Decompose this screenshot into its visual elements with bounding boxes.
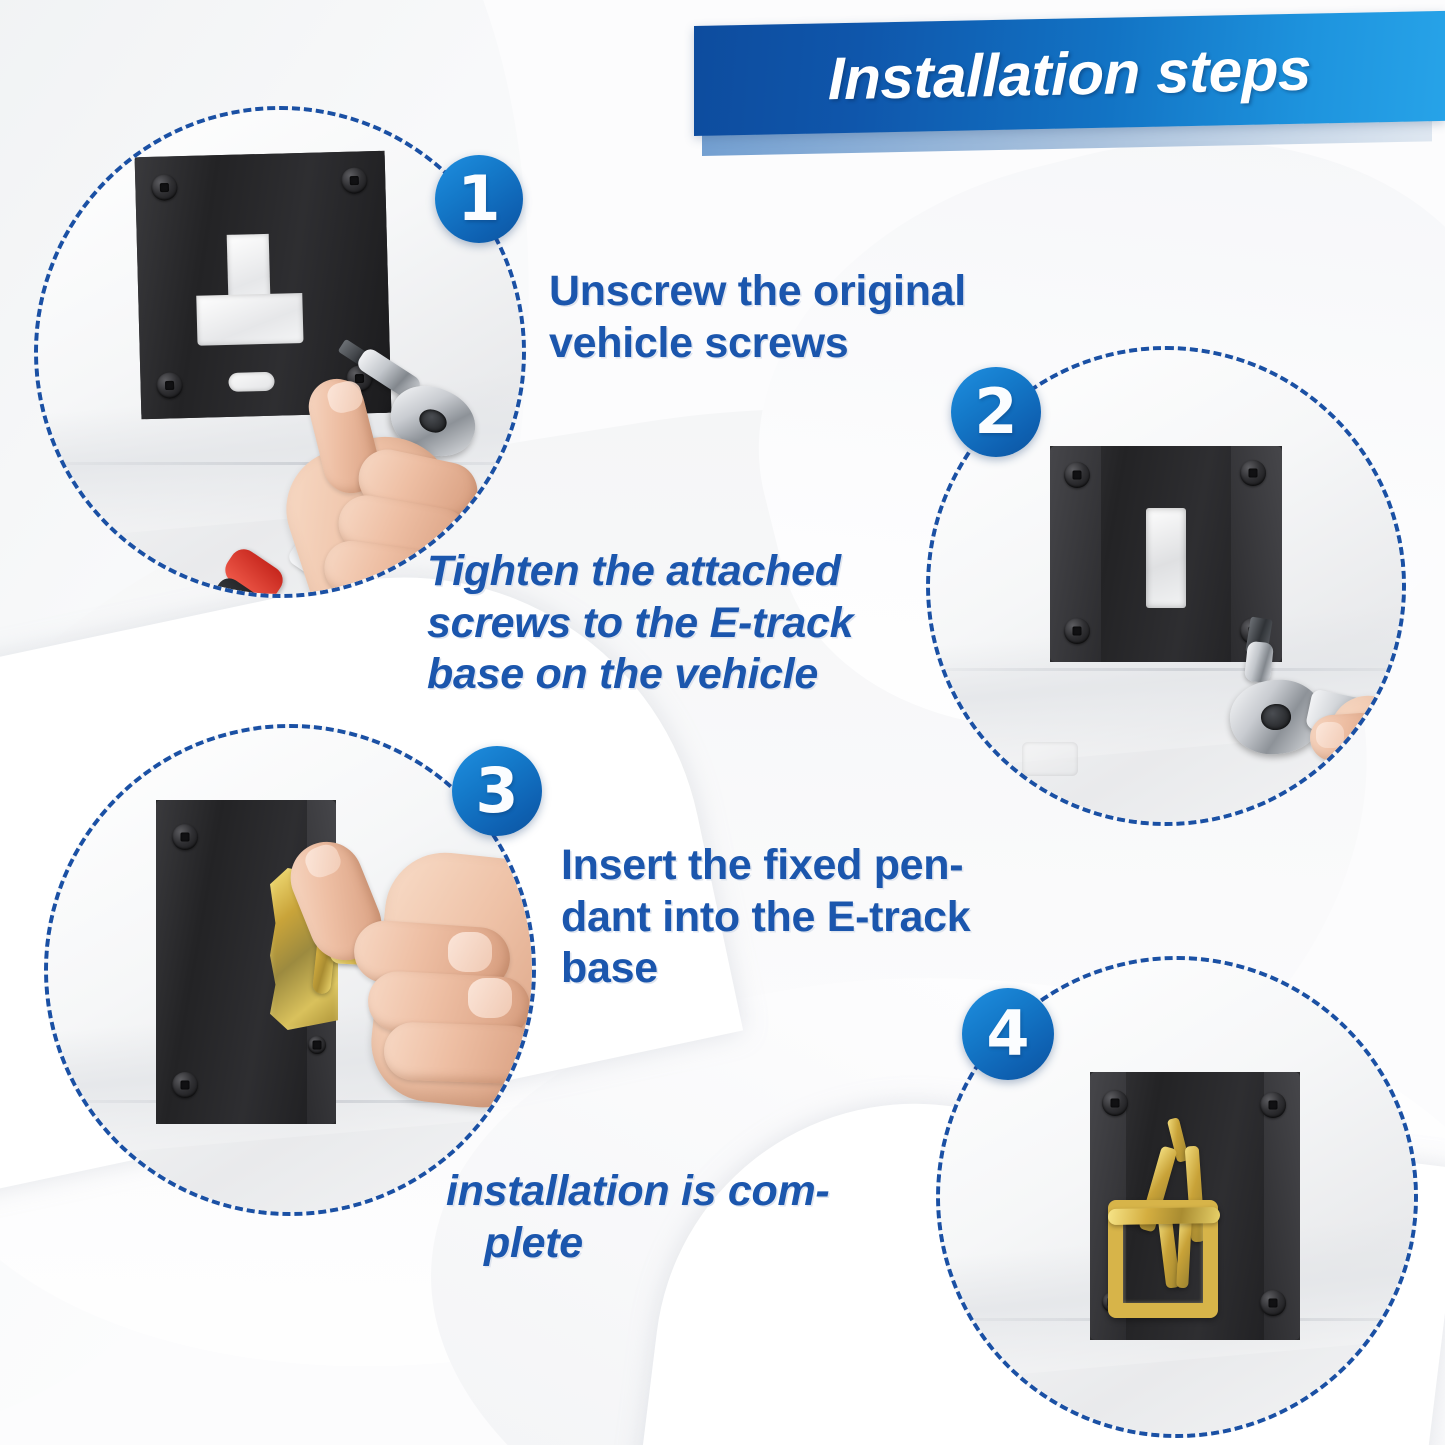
- step-number-4: 4: [986, 1003, 1029, 1065]
- step-caption-2: Tighten the attached screws to the E-tra…: [427, 546, 937, 701]
- screw-top-left: [1102, 1090, 1128, 1116]
- step-badge-3: 3: [452, 746, 542, 836]
- screw-bottom-left: [1064, 618, 1090, 644]
- screw-side: [308, 1036, 326, 1054]
- screw-top-right: [1260, 1092, 1286, 1118]
- screw-top-left: [1064, 462, 1090, 488]
- caption-line: vehicle screws: [549, 318, 1059, 370]
- caption-line: screws to the E-track: [427, 598, 937, 650]
- step-badge-4: 4: [962, 988, 1054, 1080]
- caption-line: base on the vehicle: [427, 649, 937, 701]
- caption-line: Tighten the attached: [427, 546, 937, 598]
- step-number-3: 3: [475, 760, 518, 822]
- caption-line: base: [561, 943, 1031, 995]
- step-caption-4: installation is com- plete: [446, 1166, 916, 1269]
- wrench-shaft: [1244, 641, 1274, 683]
- screw-top-right: [1240, 460, 1266, 486]
- screw-top-left: [172, 824, 198, 850]
- screw-bottom-right: [1260, 1290, 1286, 1316]
- etrack-base-plate-1: [135, 151, 392, 419]
- step-caption-1: Unscrew the original vehicle screws: [549, 266, 1059, 369]
- wall-seam: [930, 668, 1402, 671]
- etrack-base-plate-2: [1050, 446, 1282, 662]
- page-title: Installation steps: [694, 11, 1445, 136]
- anchor-ring-top: [1108, 1207, 1220, 1225]
- header-banner: Installation steps: [694, 26, 1445, 158]
- caption-line: plete: [446, 1218, 916, 1270]
- caption-line: Insert the fixed pen-: [561, 840, 1031, 892]
- step-number-1: 1: [457, 168, 500, 230]
- caption-line: installation is com-: [446, 1166, 916, 1218]
- step-badge-1: 1: [435, 155, 523, 243]
- caption-line: Unscrew the original: [549, 266, 1059, 318]
- caption-line: dant into the E-track: [561, 892, 1031, 944]
- step-badge-2: 2: [951, 367, 1041, 457]
- step-number-2: 2: [974, 381, 1017, 443]
- step-caption-3: Insert the fixed pen- dant into the E-tr…: [561, 840, 1031, 995]
- screw-bottom-left: [172, 1072, 198, 1098]
